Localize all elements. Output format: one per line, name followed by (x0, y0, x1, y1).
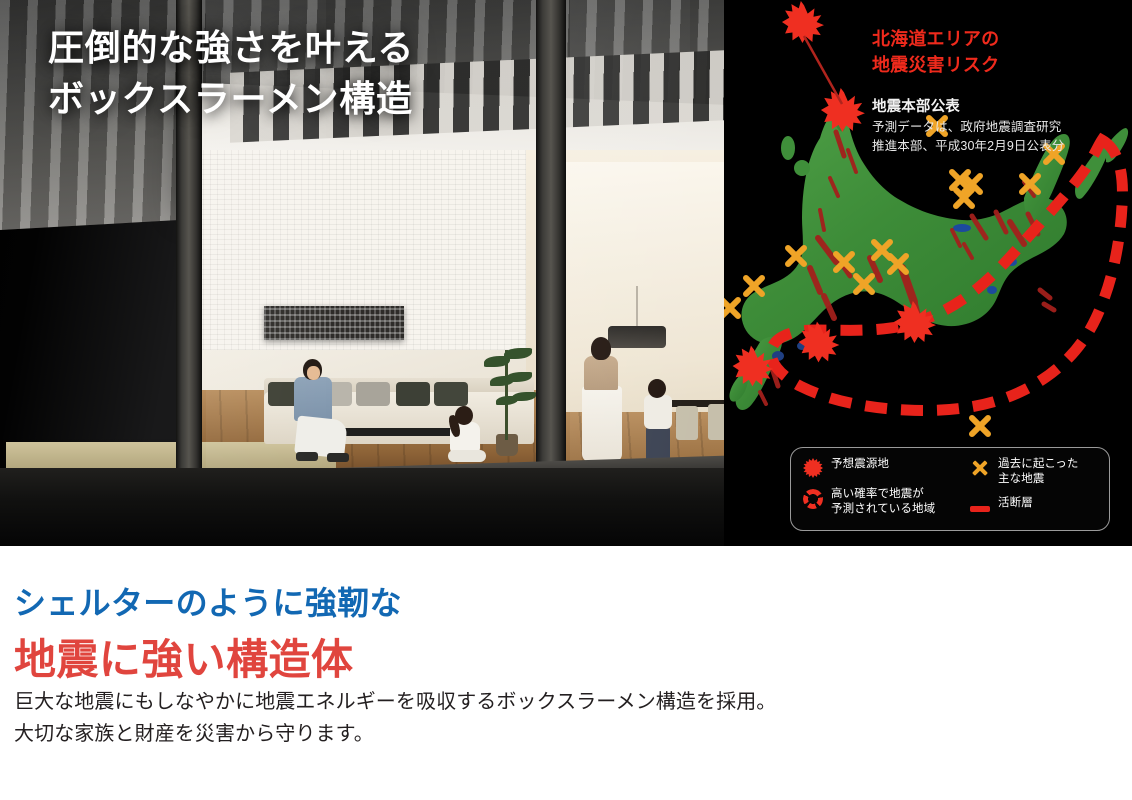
man-face (307, 366, 320, 380)
map-title: 北海道エリアの 地震災害リスク (872, 26, 999, 78)
cushion (434, 382, 468, 406)
rishiri-island (794, 160, 810, 176)
past-quake-x (746, 278, 762, 294)
lake-saroma (953, 224, 971, 232)
lake-akkeshi (987, 286, 997, 294)
legend-label: 予想震源地 (831, 457, 889, 472)
high-probability-ring-icon (803, 489, 823, 509)
pendant-lamp (608, 326, 666, 348)
legend-label: 高い確率で地震が 予測されている地域 (831, 487, 935, 517)
hero-headline: 圧倒的な強さを叶える ボックスラーメン構造 (48, 22, 414, 124)
past-quake-x (724, 300, 738, 316)
map-source-line1: 予測データは、政府地震調査研究 (872, 118, 1064, 137)
past-quake-x (972, 418, 988, 434)
legend-label-line1: 高い確率で地震が (831, 487, 935, 502)
legend-column-left: 予想震源地 高い確率で地震が 予測されている地域 (803, 457, 970, 521)
active-fault-dash-icon (970, 498, 990, 518)
boy-head (648, 379, 666, 398)
woman-head (591, 337, 611, 360)
legend-label-line1: 過去に起こった (998, 457, 1079, 472)
epicenter-marker (782, 1, 824, 43)
map-source-note: 予測データは、政府地震調査研究 推進本部、平成30年2月9日公表分 (872, 118, 1064, 156)
legend-item: 高い確率で地震が 予測されている地域 (803, 487, 970, 517)
map-source-line2: 推進本部、平成30年2月9日公表分 (872, 137, 1064, 156)
legend-label: 活断層 (998, 496, 1033, 511)
legend-item: 活断層 (970, 496, 1099, 518)
legend-label: 過去に起こった 主な地震 (998, 457, 1079, 487)
hero-headline-line2: ボックスラーメン構造 (48, 73, 414, 124)
main-headline: 地震に強い構造体 (14, 626, 353, 687)
dining-chair (676, 406, 698, 440)
man-shoe (296, 452, 318, 461)
raised-platform (6, 442, 336, 468)
legend-label-line2: 主な地震 (998, 472, 1079, 487)
cushion (356, 382, 390, 406)
legend-column-right: 過去に起こった 主な地震 活断層 (970, 457, 1099, 521)
boy-figure (644, 395, 672, 429)
hero-headline-line1: 圧倒的な強さを叶える (48, 22, 414, 73)
wall-art-panel (264, 306, 404, 340)
map-title-line1: 北海道エリアの (872, 26, 999, 52)
legend-label-line1: 活断層 (998, 496, 1033, 511)
legend-item: 過去に起こった 主な地震 (970, 457, 1099, 487)
cushion (396, 382, 430, 406)
man-figure (294, 377, 332, 421)
girl-head (455, 406, 473, 425)
epicenter-starburst-icon (803, 458, 823, 478)
map-title-line2: 地震災害リスク (872, 52, 999, 78)
girl-legs (448, 450, 486, 462)
body-copy-line1: 巨大な地震にもしなやかに地震エネルギーを吸収するボックスラーメン構造を採用。 (14, 686, 776, 718)
woman-torso (584, 356, 618, 390)
legend-item: 予想震源地 (803, 457, 970, 478)
sub-headline: シェルターのように強靭な (14, 578, 402, 624)
man-shoe (327, 453, 349, 462)
pendant-cord (636, 286, 638, 328)
map-subtitle: 地震本部公表 (872, 95, 960, 116)
past-earthquake-x-icon (970, 458, 990, 478)
rebun-island (781, 136, 795, 160)
hero-banner: 圧倒的な強さを叶える ボックスラーメン構造 (0, 0, 1132, 546)
epicenter-leader-line (804, 36, 842, 104)
body-copy: 巨大な地震にもしなやかに地震エネルギーを吸収するボックスラーメン構造を採用。 大… (14, 686, 776, 751)
foreground-deck (0, 468, 762, 546)
bottom-section: シェルターのように強靭な 地震に強い構造体 巨大な地震にもしなやかに地震エネルギ… (0, 546, 1132, 800)
map-legend: 予想震源地 高い確率で地震が 予測されている地域 過去に起こった 主な地 (790, 447, 1110, 531)
woman-figure (582, 386, 622, 462)
legend-label-line1: 予想震源地 (831, 457, 889, 472)
body-copy-line2: 大切な家族と財産を災害から守ります。 (14, 718, 776, 750)
hokkaido-risk-map: 北海道エリアの 地震災害リスク 地震本部公表 予測データは、政府地震調査研究 推… (724, 0, 1132, 546)
legend-label-line2: 予測されている地域 (831, 502, 935, 517)
